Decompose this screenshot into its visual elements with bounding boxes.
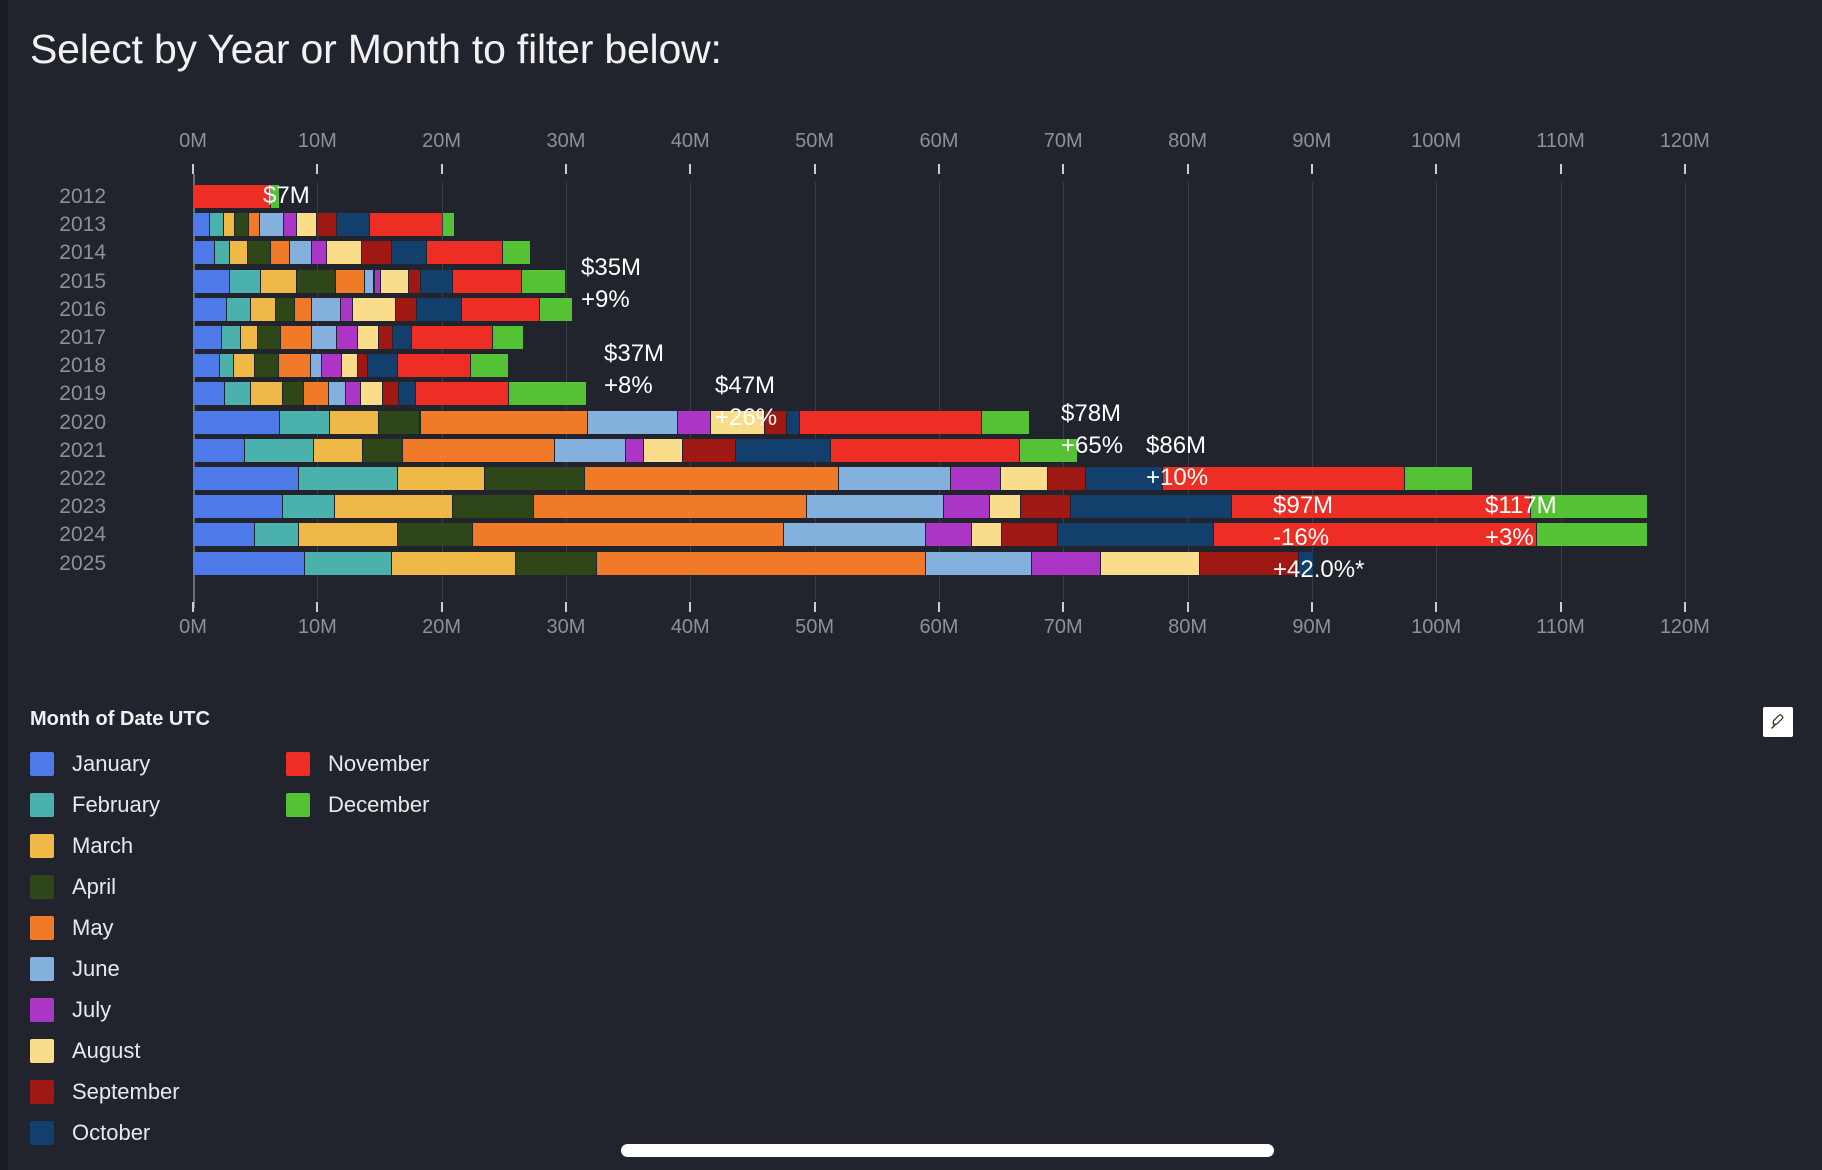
bar-segment[interactable] [398, 354, 470, 377]
x-axis-tickmark [938, 164, 940, 174]
bar-segment[interactable] [210, 213, 223, 236]
bar-segment[interactable] [800, 411, 982, 434]
bar-segment[interactable] [330, 411, 379, 434]
x-axis-tick-label: 100M [1411, 130, 1461, 153]
bar-segment[interactable] [193, 326, 221, 349]
bar-segment[interactable] [839, 467, 950, 490]
legend-item-label: July [72, 997, 111, 1023]
year-axis-label[interactable]: 2025 [0, 552, 106, 575]
pencil-highlighter-icon [1769, 713, 1787, 731]
year-axis-label[interactable]: 2022 [0, 467, 106, 490]
bar-segment[interactable] [193, 495, 282, 518]
legend-item[interactable]: June [30, 948, 180, 989]
legend-color-swatch[interactable] [30, 957, 54, 981]
bar-segment[interactable] [358, 326, 378, 349]
bar-segment[interactable] [585, 467, 839, 490]
bar-segment[interactable] [990, 495, 1020, 518]
bar-segment[interactable] [336, 270, 364, 293]
bar-segment[interactable] [409, 270, 419, 293]
bar-segment[interactable] [363, 439, 402, 462]
x-axis-tick-label: 30M [547, 616, 586, 639]
bar-segment[interactable] [453, 270, 522, 293]
bar-segment[interactable] [193, 439, 244, 462]
year-axis-label[interactable]: 2015 [0, 270, 106, 293]
year-axis-label[interactable]: 2020 [0, 411, 106, 434]
bar-segment[interactable] [462, 298, 539, 321]
bar-segment[interactable] [944, 495, 989, 518]
bar-segment[interactable] [358, 354, 367, 377]
bar-segment[interactable] [299, 523, 397, 546]
bar-segment[interactable] [588, 411, 677, 434]
bar-segment[interactable] [193, 270, 229, 293]
x-axis-tick-label: 20M [422, 130, 461, 153]
legend-item-label: May [72, 915, 114, 941]
bar-segment[interactable] [362, 241, 391, 264]
legend-color-swatch[interactable] [30, 1039, 54, 1063]
bar-row[interactable]: 2019 [193, 382, 1747, 405]
bar-segment[interactable] [281, 326, 311, 349]
year-axis-label[interactable]: 2014 [0, 241, 106, 264]
bar-segment[interactable] [412, 326, 492, 349]
x-axis-tick-label: 110M [1536, 130, 1585, 153]
bar-segment[interactable] [215, 241, 229, 264]
x-axis-tickmark [1560, 164, 1562, 174]
legend-item[interactable]: November [286, 743, 429, 784]
bar-segment[interactable] [297, 270, 335, 293]
x-axis-tickmark [192, 602, 194, 612]
bar-segment[interactable] [276, 298, 294, 321]
legend: Month of Date UTC JanuaryFebruaryMarchAp… [30, 708, 590, 1128]
bar-segment[interactable] [396, 298, 416, 321]
bar-segment[interactable] [509, 382, 586, 405]
x-axis-tickmark [1435, 164, 1437, 174]
bar-row[interactable]: 2021 [193, 439, 1747, 462]
x-axis-tick-label: 50M [795, 616, 834, 639]
stacked-bar-chart[interactable]: 0M10M20M30M40M50M60M70M80M90M100M110M120… [0, 130, 1822, 650]
x-axis-tick-label: 40M [671, 616, 710, 639]
bar-row[interactable]: 2012 [193, 185, 1747, 208]
bar-segment[interactable] [255, 354, 278, 377]
legend-item[interactable]: January [30, 743, 180, 784]
bar-segment[interactable] [555, 439, 625, 462]
bar-segment[interactable] [379, 411, 419, 434]
bar-segment[interactable] [503, 241, 531, 264]
legend-color-swatch[interactable] [30, 875, 54, 899]
bar-segment[interactable] [427, 241, 502, 264]
bar-segment[interactable] [311, 354, 321, 377]
x-axis-tick-label: 120M [1660, 130, 1710, 153]
x-axis-tickmark [316, 602, 318, 612]
bar-segment[interactable] [951, 467, 1000, 490]
legend-item-label: March [72, 833, 133, 859]
year-axis-label[interactable]: 2021 [0, 439, 106, 462]
x-axis-tickmark [192, 164, 194, 174]
bar-segment[interactable] [626, 439, 644, 462]
bar-segment[interactable] [249, 213, 259, 236]
bar-row[interactable]: 2013 [193, 213, 1747, 236]
x-axis-tick-label: 0M [179, 130, 207, 153]
bar-segment[interactable] [322, 354, 341, 377]
x-axis-tick-label: 70M [1044, 130, 1083, 153]
bar-segment[interactable] [297, 213, 316, 236]
year-axis-label[interactable]: 2013 [0, 213, 106, 236]
bar-segment[interactable] [485, 467, 583, 490]
bar-segment[interactable] [522, 270, 565, 293]
x-axis-top-ticks [193, 164, 1747, 174]
bar-segment[interactable] [284, 213, 297, 236]
x-axis-tickmark [814, 164, 816, 174]
x-axis-tickmark [441, 164, 443, 174]
bar-value-annotation: -16% [1273, 526, 1329, 550]
x-axis-bottom-ticks [193, 602, 1747, 612]
page-title: Select by Year or Month to filter below: [30, 26, 722, 73]
bar-segment[interactable] [295, 298, 311, 321]
bar-segment[interactable] [317, 213, 336, 236]
bar-segment[interactable] [283, 495, 334, 518]
legend-column-2: NovemberDecember [286, 743, 429, 825]
bar-value-annotation: +42.0%* [1273, 558, 1364, 582]
legend-color-swatch[interactable] [30, 752, 54, 776]
bar-segment[interactable] [926, 552, 1031, 575]
bar-segment[interactable] [241, 326, 256, 349]
bar-segment[interactable] [224, 213, 234, 236]
bar-segment[interactable] [305, 552, 391, 575]
legend-color-swatch[interactable] [30, 916, 54, 940]
x-axis-tick-label: 110M [1536, 616, 1585, 639]
bar-value-annotation: +10% [1146, 466, 1208, 490]
bar-segment[interactable] [337, 213, 368, 236]
legend-item-label: April [72, 874, 116, 900]
x-axis-tick-label: 90M [1292, 130, 1331, 153]
bar-segment[interactable] [258, 326, 281, 349]
bar-segment[interactable] [251, 382, 281, 405]
bar-segment[interactable] [403, 439, 554, 462]
bar-segment[interactable] [299, 467, 397, 490]
x-axis-tickmark [938, 602, 940, 612]
pencil-highlighter-icon-button[interactable] [1763, 707, 1793, 737]
bar-segment[interactable] [383, 382, 398, 405]
bar-segment[interactable] [245, 439, 312, 462]
bar-row[interactable]: 2017 [193, 326, 1747, 349]
x-axis-tickmark [689, 164, 691, 174]
legend-item-label: September [72, 1079, 180, 1105]
bar-value-annotation: $37M [604, 342, 664, 366]
legend-color-swatch[interactable] [30, 793, 54, 817]
bar-segment[interactable] [1002, 523, 1057, 546]
x-axis-tickmark [1684, 602, 1686, 612]
bar-segment[interactable] [234, 354, 254, 377]
x-axis-tick-label: 50M [795, 130, 834, 153]
bar-value-annotation: $47M [715, 374, 775, 398]
year-axis-label[interactable]: 2019 [0, 382, 106, 405]
bar-segment[interactable] [193, 523, 254, 546]
x-axis-tickmark [565, 164, 567, 174]
bar-segment[interactable] [1537, 523, 1647, 546]
bar-segment[interactable] [972, 523, 1001, 546]
bar-segment[interactable] [283, 382, 303, 405]
bar-segment[interactable] [1058, 523, 1212, 546]
bar-segment[interactable] [368, 354, 397, 377]
bar-segment[interactable] [540, 298, 573, 321]
bar-segment[interactable] [644, 439, 682, 462]
bar-row[interactable]: 2018 [193, 354, 1747, 377]
x-axis-tick-label: 40M [671, 130, 710, 153]
bar-segment[interactable] [314, 439, 363, 462]
bar-segment[interactable] [230, 270, 260, 293]
bar-segment[interactable] [329, 382, 345, 405]
bar-segment[interactable] [1101, 552, 1199, 575]
bar-row[interactable]: 2014 [193, 241, 1747, 264]
legend-item[interactable]: April [30, 866, 180, 907]
legend-item[interactable]: May [30, 907, 180, 948]
legend-item[interactable]: September [30, 1071, 180, 1112]
x-axis-tickmark [316, 164, 318, 174]
x-axis-tickmark [1311, 164, 1313, 174]
bar-segment[interactable] [337, 326, 357, 349]
bar-segment[interactable] [365, 270, 374, 293]
x-axis-bottom: 0M10M20M30M40M50M60M70M80M90M100M110M120… [193, 616, 1747, 638]
x-axis-tick-label: 120M [1660, 616, 1710, 639]
year-axis-label[interactable]: 2024 [0, 523, 106, 546]
bar-segment[interactable] [421, 411, 588, 434]
x-axis-tickmark [1311, 602, 1313, 612]
bar-segment[interactable] [342, 354, 357, 377]
bar-segment[interactable] [193, 467, 298, 490]
bar-segment[interactable] [683, 439, 735, 462]
bar-value-annotation: +65% [1061, 434, 1123, 458]
bar-segment[interactable] [193, 411, 279, 434]
bar-segment[interactable] [230, 241, 246, 264]
x-axis-tickmark [441, 602, 443, 612]
bar-segment[interactable] [597, 552, 925, 575]
bar-segment[interactable] [279, 354, 310, 377]
bar-row[interactable]: 2022 [193, 467, 1747, 490]
x-axis-tick-label: 10M [298, 616, 337, 639]
x-axis-tickmark [1062, 164, 1064, 174]
bar-segment[interactable] [392, 552, 515, 575]
x-axis-top: 0M10M20M30M40M50M60M70M80M90M100M110M120… [193, 130, 1747, 152]
bar-segment[interactable] [416, 382, 508, 405]
legend-color-swatch[interactable] [30, 998, 54, 1022]
bar-segment[interactable] [421, 270, 452, 293]
legend-item[interactable]: December [286, 784, 429, 825]
legend-item-label: February [72, 792, 160, 818]
bar-segment[interactable] [831, 439, 1019, 462]
bar-segment[interactable] [193, 552, 304, 575]
x-axis-tick-label: 0M [179, 616, 207, 639]
bar-segment[interactable] [493, 326, 523, 349]
bar-segment[interactable] [1071, 495, 1232, 518]
legend-color-swatch[interactable] [286, 793, 310, 817]
dashboard-root: Select by Year or Month to filter below:… [0, 0, 1822, 1170]
year-axis-label[interactable]: 2017 [0, 326, 106, 349]
x-axis-tickmark [565, 602, 567, 612]
bar-segment[interactable] [392, 241, 426, 264]
x-axis-tickmark [1560, 602, 1562, 612]
legend-item-label: August [72, 1038, 141, 1064]
bar-segment[interactable] [982, 411, 1028, 434]
bar-segment[interactable] [807, 495, 943, 518]
bar-segment[interactable] [926, 523, 971, 546]
legend-color-swatch[interactable] [30, 834, 54, 858]
bar-segment[interactable] [784, 523, 926, 546]
bar-segment[interactable] [471, 354, 507, 377]
bar-segment[interactable] [290, 241, 311, 264]
bar-row[interactable]: 2025 [193, 552, 1747, 575]
bar-segment[interactable] [260, 213, 283, 236]
x-axis-tickmark [1187, 602, 1189, 612]
bar-value-annotation: +8% [604, 374, 653, 398]
bar-segment[interactable] [193, 213, 209, 236]
bar-segment[interactable] [341, 298, 352, 321]
bar-segment[interactable] [453, 495, 533, 518]
bar-segment[interactable] [346, 382, 360, 405]
bar-value-annotation: +26% [715, 406, 777, 430]
x-axis-tickmark [814, 602, 816, 612]
bar-segment[interactable] [736, 439, 829, 462]
bar-segment[interactable] [1001, 467, 1047, 490]
bar-segment[interactable] [379, 326, 392, 349]
bar-segment[interactable] [399, 382, 414, 405]
bar-segment[interactable] [370, 213, 442, 236]
bar-segment[interactable] [678, 411, 711, 434]
x-axis-tick-label: 20M [422, 616, 461, 639]
bar-segment[interactable] [1405, 467, 1472, 490]
bar-segment[interactable] [220, 354, 233, 377]
bar-segment[interactable] [375, 270, 380, 293]
legend-item[interactable]: August [30, 1030, 180, 1071]
bar-value-annotation: $7M [263, 184, 310, 208]
legend-item-label: January [72, 751, 150, 777]
x-axis-tickmark [1684, 164, 1686, 174]
bar-segment[interactable] [312, 298, 340, 321]
bar-row[interactable]: 2015 [193, 270, 1747, 293]
bar-segment[interactable] [1032, 552, 1099, 575]
bar-value-annotation: $78M [1061, 402, 1121, 426]
bar-segment[interactable] [304, 382, 328, 405]
bar-segment[interactable] [227, 298, 251, 321]
legend-item-label: December [328, 792, 429, 818]
x-axis-tick-label: 80M [1168, 130, 1207, 153]
year-axis-label[interactable]: 2012 [0, 185, 106, 208]
legend-item[interactable]: March [30, 825, 180, 866]
bar-segment[interactable] [443, 213, 454, 236]
legend-color-swatch[interactable] [30, 1080, 54, 1104]
bar-segment[interactable] [235, 213, 248, 236]
bar-segment[interactable] [398, 523, 472, 546]
year-axis-label[interactable]: 2018 [0, 354, 106, 377]
bar-segment[interactable] [335, 495, 452, 518]
legend-item-label: November [328, 751, 429, 777]
bar-segment[interactable] [516, 552, 596, 575]
bar-segment[interactable] [193, 382, 224, 405]
bar-segment[interactable] [271, 241, 289, 264]
bar-value-annotation: $97M [1273, 494, 1333, 518]
x-axis-tick-label: 90M [1292, 616, 1331, 639]
x-axis-tickmark [1435, 602, 1437, 612]
bar-value-annotation: $117M [1485, 494, 1557, 518]
bar-segment[interactable] [361, 382, 382, 405]
bar-row[interactable]: 2020 [193, 411, 1747, 434]
x-axis-tick-label: 60M [919, 130, 958, 153]
bar-segment[interactable] [398, 467, 484, 490]
bar-segment[interactable] [327, 241, 361, 264]
bar-segment[interactable] [393, 326, 411, 349]
x-axis-tickmark [1187, 164, 1189, 174]
bar-segment[interactable] [261, 270, 296, 293]
year-axis-label[interactable]: 2016 [0, 298, 106, 321]
x-axis-tickmark [1062, 602, 1064, 612]
bar-segment[interactable] [787, 411, 798, 434]
x-axis-tick-label: 30M [547, 130, 586, 153]
bar-segment[interactable] [251, 298, 275, 321]
bar-segment[interactable] [225, 382, 250, 405]
x-axis-tickmark [689, 602, 691, 612]
bar-segment[interactable] [193, 298, 226, 321]
bar-segment[interactable] [193, 354, 219, 377]
bar-segment[interactable] [312, 241, 326, 264]
plot-area[interactable]: 2012201320142015201620172018201920202021… [193, 182, 1747, 600]
bar-segment[interactable] [248, 241, 271, 264]
year-axis-label[interactable]: 2023 [0, 495, 106, 518]
bar-segment[interactable] [255, 523, 298, 546]
legend-color-swatch[interactable] [30, 1121, 54, 1145]
legend-item[interactable]: July [30, 989, 180, 1030]
bar-row[interactable]: 2016 [193, 298, 1747, 321]
bar-segment[interactable] [417, 298, 461, 321]
legend-color-swatch[interactable] [286, 752, 310, 776]
bar-segment[interactable] [1021, 495, 1070, 518]
x-axis-tick-label: 80M [1168, 616, 1207, 639]
bar-segment[interactable] [534, 495, 807, 518]
bar-value-annotation: +3% [1485, 526, 1534, 550]
x-axis-tick-label: 100M [1411, 616, 1461, 639]
horizontal-scrollbar-thumb[interactable] [621, 1144, 1274, 1157]
bar-segment[interactable] [1048, 467, 1084, 490]
bar-value-annotation: +9% [581, 288, 630, 312]
bar-segment[interactable] [312, 326, 336, 349]
bar-segment[interactable] [473, 523, 783, 546]
x-axis-tick-label: 70M [1044, 616, 1083, 639]
legend-column-1: JanuaryFebruaryMarchAprilMayJuneJulyAugu… [30, 743, 180, 1153]
bar-value-annotation: $86M [1146, 434, 1206, 458]
horizontal-scrollbar-track[interactable] [8, 1142, 1822, 1158]
legend-title: Month of Date UTC [30, 708, 590, 731]
bar-segment[interactable] [222, 326, 241, 349]
legend-item-label: June [72, 956, 120, 982]
bar-segment[interactable] [353, 298, 394, 321]
legend-item[interactable]: February [30, 784, 180, 825]
bar-segment[interactable] [280, 411, 329, 434]
bar-segment[interactable] [193, 185, 270, 208]
bar-value-annotation: $35M [581, 256, 641, 280]
x-axis-tick-label: 10M [298, 130, 337, 153]
bar-segment[interactable] [193, 241, 214, 264]
x-axis-tick-label: 60M [919, 616, 958, 639]
bar-segment[interactable] [381, 270, 409, 293]
